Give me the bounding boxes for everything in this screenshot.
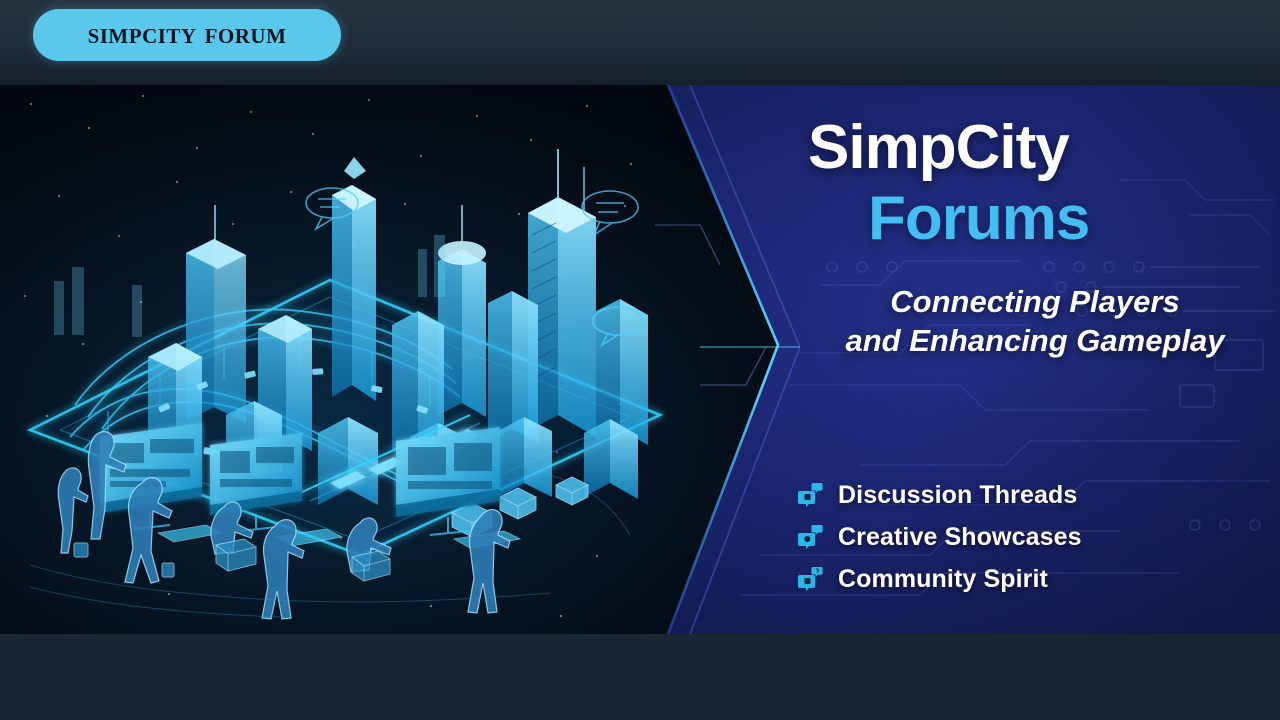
banner-title-main: SimpCity <box>808 117 1069 179</box>
feature-item-creative-showcases[interactable]: Creative Showcases <box>798 522 1082 552</box>
feature-label: Creative Showcases <box>838 523 1082 552</box>
site-logo[interactable]: SimpCity Forum <box>33 9 341 61</box>
feature-list: Discussion Threads Creative Showcases Co… <box>798 480 1082 594</box>
top-bar: SimpCity Forum <box>0 0 1280 85</box>
feature-item-community-spirit[interactable]: Community Spirit <box>798 564 1082 594</box>
banner-tagline: Connecting Players and Enhancing Gamepla… <box>800 283 1270 361</box>
site-logo-label: SimpCity Forum <box>88 19 287 51</box>
banner-content: SimpCity Forums Connecting Players and E… <box>790 85 1280 634</box>
hero-banner: SimpCity Forums Connecting Players and E… <box>0 85 1280 634</box>
chat-bubble-icon <box>798 566 824 592</box>
banner-left-panel <box>0 85 790 634</box>
banner-tagline-line2: and Enhancing Gameplay <box>800 322 1270 361</box>
feature-label: Discussion Threads <box>838 481 1077 510</box>
chat-bubble-icon <box>798 524 824 550</box>
feature-label: Community Spirit <box>838 565 1048 594</box>
banner-title-sub: Forums <box>868 188 1089 250</box>
feature-item-discussion-threads[interactable]: Discussion Threads <box>798 480 1082 510</box>
chat-bubble-icon <box>798 482 824 508</box>
banner-tagline-line1: Connecting Players <box>800 283 1270 322</box>
people-and-screens-illustration <box>30 415 650 634</box>
